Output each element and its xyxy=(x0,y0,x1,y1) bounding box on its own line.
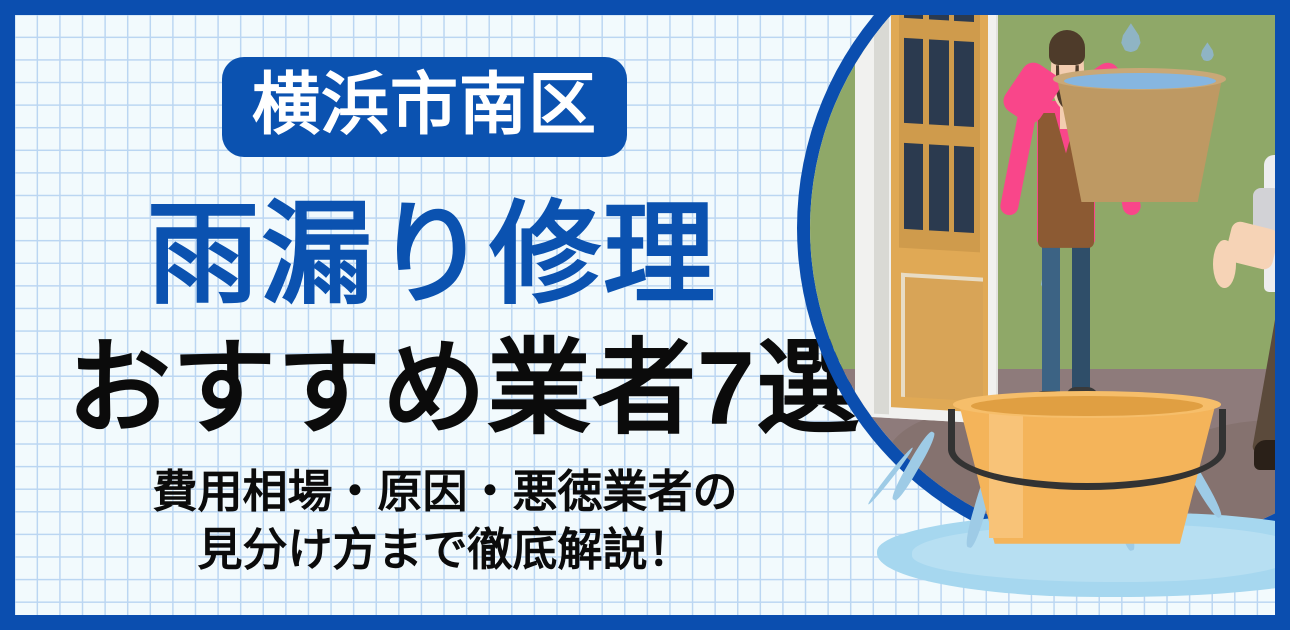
door-glass-pane xyxy=(929,39,949,126)
door-glass-pane xyxy=(903,15,923,19)
description-line-1: 費用相場・原因・悪徳業者の xyxy=(125,463,765,521)
door-glass-pane xyxy=(954,146,974,233)
page-title: 雨漏り修理 xyxy=(147,199,717,311)
door-glass-pane xyxy=(954,15,974,22)
graph-paper-background: 横浜市南区 雨漏り修理 おすすめ業者7選 費用相場・原因・悪徳業者の 見分け方ま… xyxy=(15,15,1275,615)
description-block: 費用相場・原因・悪徳業者の 見分け方まで徹底解説！ xyxy=(125,463,765,578)
subtitle-headline: おすすめ業者7選 xyxy=(67,337,861,441)
door-glass-pane xyxy=(903,143,923,230)
hair xyxy=(1049,30,1085,66)
door-glass-pane xyxy=(954,41,974,128)
location-badge: 横浜市南区 xyxy=(222,57,627,157)
door-glass-pane xyxy=(929,15,949,21)
door-glass-area xyxy=(898,15,980,253)
leaking-bucket xyxy=(959,393,1216,550)
bucket-body xyxy=(1057,76,1223,202)
banner-root: 横浜市南区 雨漏り修理 おすすめ業者7選 費用相場・原因・悪徳業者の 見分け方ま… xyxy=(0,0,1290,630)
bucket-water-surface xyxy=(1064,73,1216,89)
hand xyxy=(1213,240,1236,288)
description-line-2: 見分け方まで徹底解説！ xyxy=(125,521,765,579)
leaking-bucket-group xyxy=(865,351,1275,613)
door-glass-pane xyxy=(903,38,923,125)
bucket-with-water xyxy=(1053,68,1226,202)
door-glass-pane xyxy=(929,145,949,232)
bucket-handle xyxy=(948,409,1226,491)
text-column: 横浜市南区 雨漏り修理 おすすめ業者7選 費用相場・原因・悪徳業者の 見分け方ま… xyxy=(15,15,845,615)
